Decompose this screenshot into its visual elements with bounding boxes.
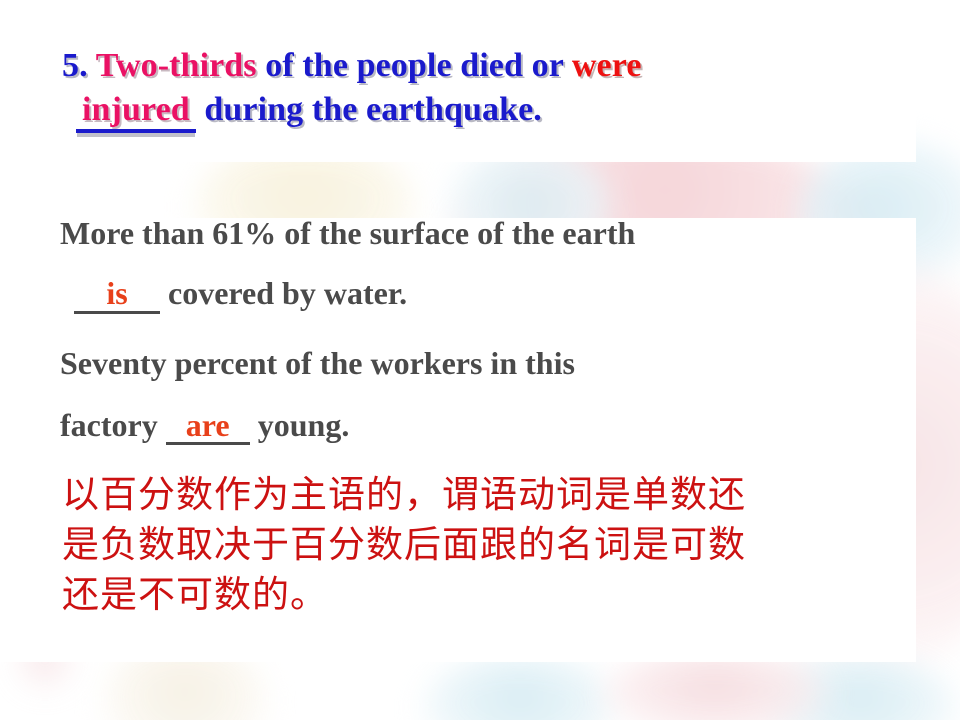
title-item-number: 5. [62,47,88,84]
title-fraction-subject: Two-thirds [96,47,257,84]
sentence1-line1: More than 61% of the surface of the eart… [60,216,940,250]
chinese-note-block: 以百分数作为主语的，谓语动词是单数还 是负数取决于百分数后面跟的名词是可数 还是… [62,470,932,620]
sentence1-line1-text: More than 61% of the surface of the eart… [60,215,635,251]
chinese-note-line: 是负数取决于百分数后面跟的名词是可数 [62,520,932,570]
sentence2-line2: factory are young. [60,408,940,445]
title-line-1: 5. Two-thirds of the people died or were [62,44,942,88]
sentence2-line2-head: factory [60,407,158,443]
sentence2-line1-text: Seventy percent of the workers in this [60,345,575,381]
title-predicate: of the people died or [265,47,563,84]
slide-canvas: 5. Two-thirds of the people died or were… [0,0,960,720]
sentence2-line1: Seventy percent of the workers in this [60,346,940,380]
title-block: 5. Two-thirds of the people died or were… [62,44,942,132]
title-blank-answer: injured [76,91,196,133]
sentence1-blank-answer: is [74,278,160,314]
sentence1-line2: is covered by water. [60,276,940,314]
sentence1-line2-tail: covered by water. [168,275,407,311]
sentence2-line2-tail: young. [258,407,350,443]
title-auxiliary-verb: were [572,47,642,84]
title-time-phrase: during the earthquake. [204,91,542,128]
chinese-note-line: 以百分数作为主语的，谓语动词是单数还 [62,470,932,520]
english-body-block: More than 61% of the surface of the eart… [60,216,940,445]
chinese-note-line: 还是不可数的。 [62,570,932,620]
title-line-2: injured during the earthquake. [62,88,942,132]
sentence2-blank-answer: are [166,410,250,445]
text-layer: 5. Two-thirds of the people died or were… [0,0,960,720]
